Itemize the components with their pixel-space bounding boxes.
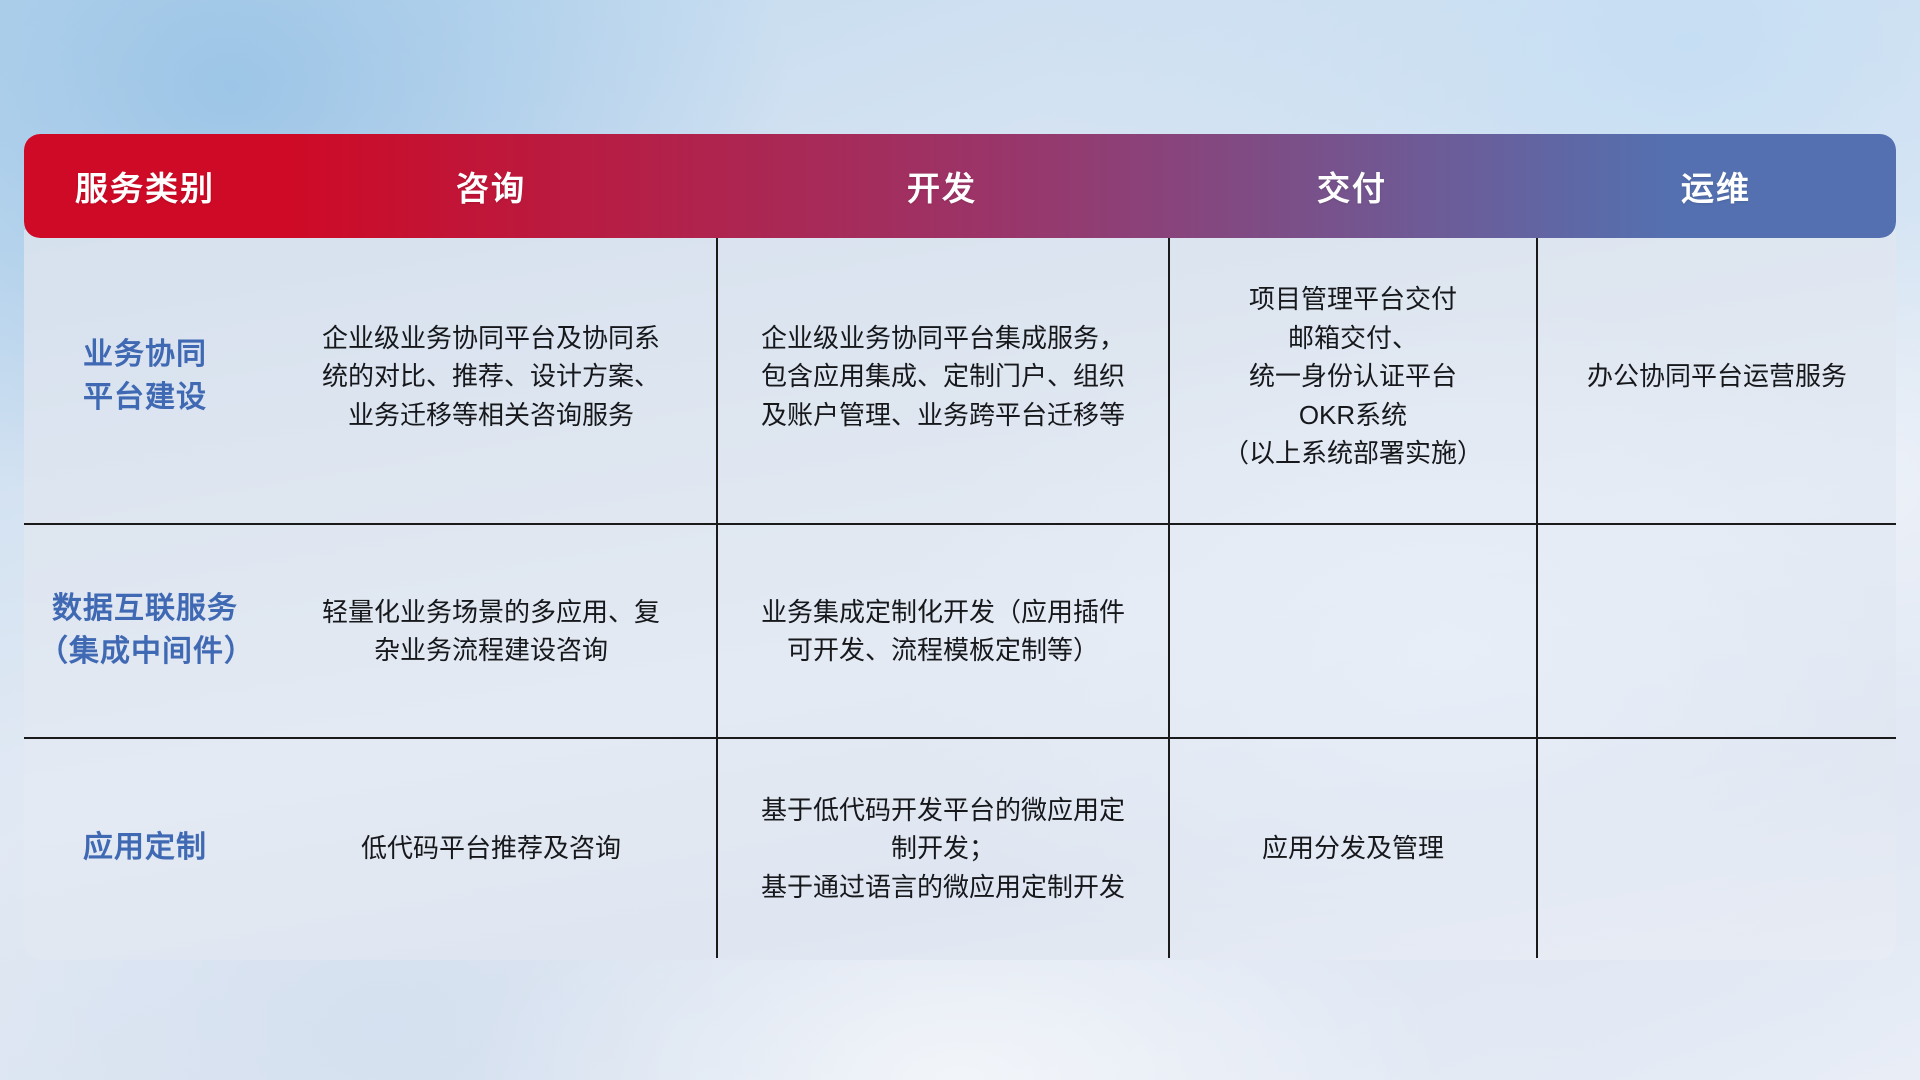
cell-row0-consult: 企业级业务协同平台及协同系 统的对比、推荐、设计方案、 业务迁移等相关咨询服务 bbox=[266, 230, 716, 523]
table-row: 数据互联服务 （集成中间件） 轻量化业务场景的多应用、复 杂业务流程建设咨询 业… bbox=[24, 523, 1896, 737]
table-row: 应用定制 低代码平台推荐及咨询 基于低代码开发平台的微应用定 制开发； 基于通过… bbox=[24, 737, 1896, 958]
column-header-develop: 开发 bbox=[716, 134, 1168, 238]
cell-row1-consult: 轻量化业务场景的多应用、复 杂业务流程建设咨询 bbox=[266, 525, 716, 737]
column-header-deliver: 交付 bbox=[1168, 134, 1536, 238]
header-cells: 服务类别 咨询 开发 交付 运维 bbox=[24, 134, 1896, 238]
row-label-data-interconnect: 数据互联服务 （集成中间件） bbox=[24, 525, 266, 737]
cell-row1-operate bbox=[1536, 525, 1896, 737]
cell-row2-deliver: 应用分发及管理 bbox=[1168, 739, 1536, 958]
table-body: 业务协同 平台建设 企业级业务协同平台及协同系 统的对比、推荐、设计方案、 业务… bbox=[24, 230, 1896, 960]
table-row: 业务协同 平台建设 企业级业务协同平台及协同系 统的对比、推荐、设计方案、 业务… bbox=[24, 230, 1896, 523]
service-category-table: 服务类别 咨询 开发 交付 运维 业务协同 平台建设 企业级业务协同平台及协同系… bbox=[24, 134, 1896, 960]
cell-row2-consult: 低代码平台推荐及咨询 bbox=[266, 739, 716, 958]
cell-row0-deliver: 项目管理平台交付 邮箱交付、 统一身份认证平台 OKR系统 （以上系统部署实施） bbox=[1168, 230, 1536, 523]
cell-row1-develop: 业务集成定制化开发（应用插件 可开发、流程模板定制等） bbox=[716, 525, 1168, 737]
cell-row0-develop: 企业级业务协同平台集成服务， 包含应用集成、定制门户、组织 及账户管理、业务跨平… bbox=[716, 230, 1168, 523]
column-header-operate: 运维 bbox=[1536, 134, 1896, 238]
cell-row2-operate bbox=[1536, 739, 1896, 958]
cell-row2-develop: 基于低代码开发平台的微应用定 制开发； 基于通过语言的微应用定制开发 bbox=[716, 739, 1168, 958]
column-header-category: 服务类别 bbox=[24, 134, 266, 238]
row-label-app-customization: 应用定制 bbox=[24, 739, 266, 958]
column-header-consult: 咨询 bbox=[266, 134, 716, 238]
table-header-bar: 服务类别 咨询 开发 交付 运维 bbox=[24, 134, 1896, 238]
cell-row1-deliver bbox=[1168, 525, 1536, 737]
row-label-business-collaboration: 业务协同 平台建设 bbox=[24, 230, 266, 523]
cell-row0-operate: 办公协同平台运营服务 bbox=[1536, 230, 1896, 523]
